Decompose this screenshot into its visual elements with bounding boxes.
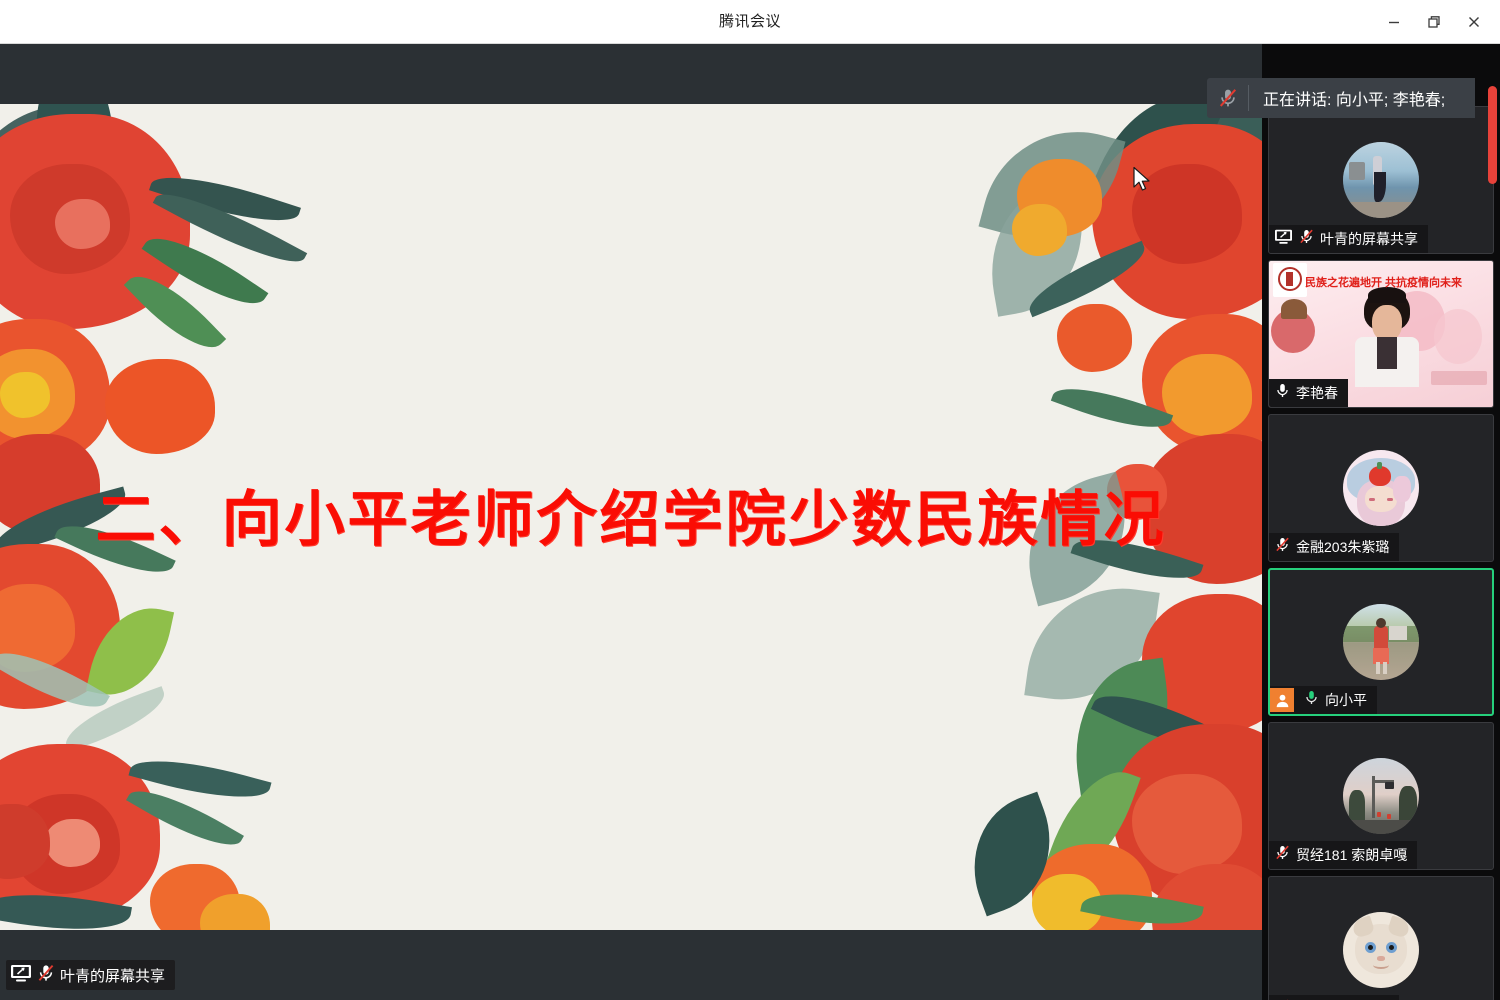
microphone-icon [1299, 689, 1320, 711]
screen-share-icon [1274, 228, 1293, 250]
avatar [1343, 142, 1419, 218]
tile-name-label: 叶青的屏幕共享 [1320, 229, 1418, 249]
microphone-muted-icon [1298, 228, 1315, 250]
tile-name-label: 金融203朱紫璐 [1296, 537, 1389, 557]
arrow-cursor [1132, 166, 1152, 199]
participant-tile-chenhongyi[interactable]: 金工191陈泓伊 [1268, 876, 1494, 1000]
tencent-meeting-window: 腾讯会议 [0, 0, 1500, 1000]
maximize-restore-button[interactable] [1414, 2, 1454, 42]
avatar [1343, 450, 1419, 526]
shared-screen-stage[interactable]: 二、向小平老师介绍学院少数民族情况 [0, 44, 1262, 1000]
title-bar: 腾讯会议 [0, 0, 1500, 44]
microphone-muted-icon [36, 963, 56, 988]
screen-share-icon [10, 963, 32, 988]
microphone-muted-icon [1207, 85, 1249, 111]
tile-name-bar: 金融203朱紫璐 [1269, 533, 1399, 561]
tile-name-bar: 向小平 [1270, 686, 1377, 714]
microphone-muted-icon [1274, 536, 1291, 558]
close-button[interactable] [1454, 2, 1494, 42]
microphone-muted-icon [1274, 844, 1291, 866]
screen-share-badge: 叶青的屏幕共享 [6, 960, 175, 990]
tile-name-bar: 贸经181 索朗卓嘎 [1269, 841, 1417, 869]
minimize-button[interactable] [1374, 2, 1414, 42]
tile-media [1269, 877, 1493, 1000]
window-title: 腾讯会议 [0, 0, 1500, 44]
microphone-icon [1274, 382, 1291, 404]
tile-name-bar: 李艳春 [1269, 379, 1348, 407]
sidebar-scrollbar-thumb[interactable] [1488, 86, 1497, 184]
presentation-slide: 二、向小平老师介绍学院少数民族情况 [0, 104, 1262, 930]
avatar [1343, 604, 1419, 680]
participant-tile-zhuzilu[interactable]: 金融203朱紫璐 [1268, 414, 1494, 562]
tile-name-label: 李艳春 [1296, 383, 1338, 403]
tile-name-label: 向小平 [1325, 690, 1367, 710]
participant-tile-liyanchun[interactable]: 民族之花遍地开 共抗疫情向未来 李艳春 [1268, 260, 1494, 408]
window-controls [1374, 0, 1494, 44]
screen-share-badge-label: 叶青的屏幕共享 [60, 965, 165, 986]
participant-tile-screen-share[interactable]: 叶青的屏幕共享 [1268, 106, 1494, 254]
tile-name-bar: 叶青的屏幕共享 [1269, 225, 1428, 253]
slide-title: 二、向小平老师介绍学院少数民族情况 [0, 104, 1262, 930]
participant-sidebar[interactable]: 叶青的屏幕共享 民族之花遍地开 共抗疫情向未来 [1262, 44, 1500, 1000]
avatar [1343, 758, 1419, 834]
participant-tile-xiangxiaoping[interactable]: 向小平 [1268, 568, 1494, 716]
speaking-indicator-overlay: 正在讲话: 向小平; 李艳春; [1207, 78, 1475, 118]
sidebar-scrollbar-track[interactable] [1486, 46, 1498, 998]
speaking-indicator-label: 正在讲话: 向小平; 李艳春; [1249, 86, 1445, 110]
tile-name-bar: 金工191陈泓伊 [1269, 995, 1399, 1000]
host-person-icon [1270, 688, 1294, 712]
participant-tile-suolangzhuoga[interactable]: 贸经181 索朗卓嘎 [1268, 722, 1494, 870]
video-caption: 民族之花遍地开 共抗疫情向未来 [1271, 274, 1462, 290]
tile-name-label: 贸经181 索朗卓嘎 [1296, 845, 1407, 865]
avatar [1343, 912, 1419, 988]
